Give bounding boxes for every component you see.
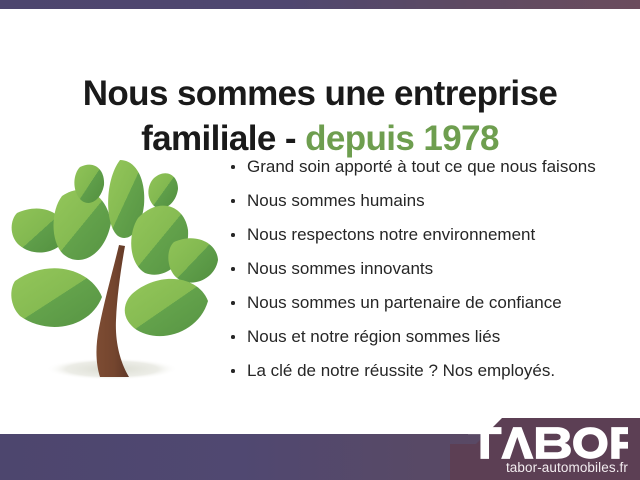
- list-item-label: Nous sommes innovants: [247, 259, 433, 278]
- list-item-label: Nous sommes humains: [247, 191, 425, 210]
- slide-canvas: Nous sommes une entreprise familiale - d…: [0, 0, 640, 480]
- list-item: La clé de notre réussite ? Nos employés.: [228, 356, 628, 390]
- list-item-label: Nous sommes un partenaire de confiance: [247, 293, 562, 312]
- brand-url-label: tabor-automobiles.fr: [468, 460, 628, 476]
- headline-line-1: Nous sommes une entreprise: [83, 74, 558, 113]
- bullet-icon: [231, 335, 235, 339]
- list-item-label: Nous et notre région sommes liés: [247, 327, 500, 346]
- bullet-icon: [231, 267, 235, 271]
- list-item: Nous respectons notre environnement: [228, 220, 628, 254]
- bullet-icon: [231, 165, 235, 169]
- list-item: Nous et notre région sommes liés: [228, 322, 628, 356]
- bullet-icon: [231, 233, 235, 237]
- list-item: Nous sommes humains: [228, 186, 628, 220]
- leaf-top-small-left: [74, 165, 104, 203]
- brand-logo[interactable]: tabor-automobiles.fr: [468, 427, 628, 476]
- tree-trunk: [96, 245, 129, 377]
- leaf-lower-right: [125, 279, 208, 336]
- bullet-icon: [231, 301, 235, 305]
- list-item: Grand soin apporté à tout ce que nous fa…: [228, 152, 628, 186]
- tabor-wordmark-icon: [468, 427, 628, 459]
- top-accent-strip: [0, 0, 640, 9]
- tree-illustration: [8, 150, 233, 390]
- bullet-icon: [231, 199, 235, 203]
- list-item-label: Grand soin apporté à tout ce que nous fa…: [247, 157, 596, 176]
- leaf-lower-left: [11, 268, 102, 327]
- list-item-label: Nous respectons notre environnement: [247, 225, 535, 244]
- list-item: Nous sommes innovants: [228, 254, 628, 288]
- leaf-mid-right: [168, 238, 218, 282]
- list-item: Nous sommes un partenaire de confiance: [228, 288, 628, 322]
- tree-icon: [8, 150, 233, 390]
- list-item-label: La clé de notre réussite ? Nos employés.: [247, 361, 555, 380]
- bullet-icon: [231, 369, 235, 373]
- benefits-list: Grand soin apporté à tout ce que nous fa…: [228, 152, 628, 390]
- leaf-top-small-right: [148, 173, 178, 208]
